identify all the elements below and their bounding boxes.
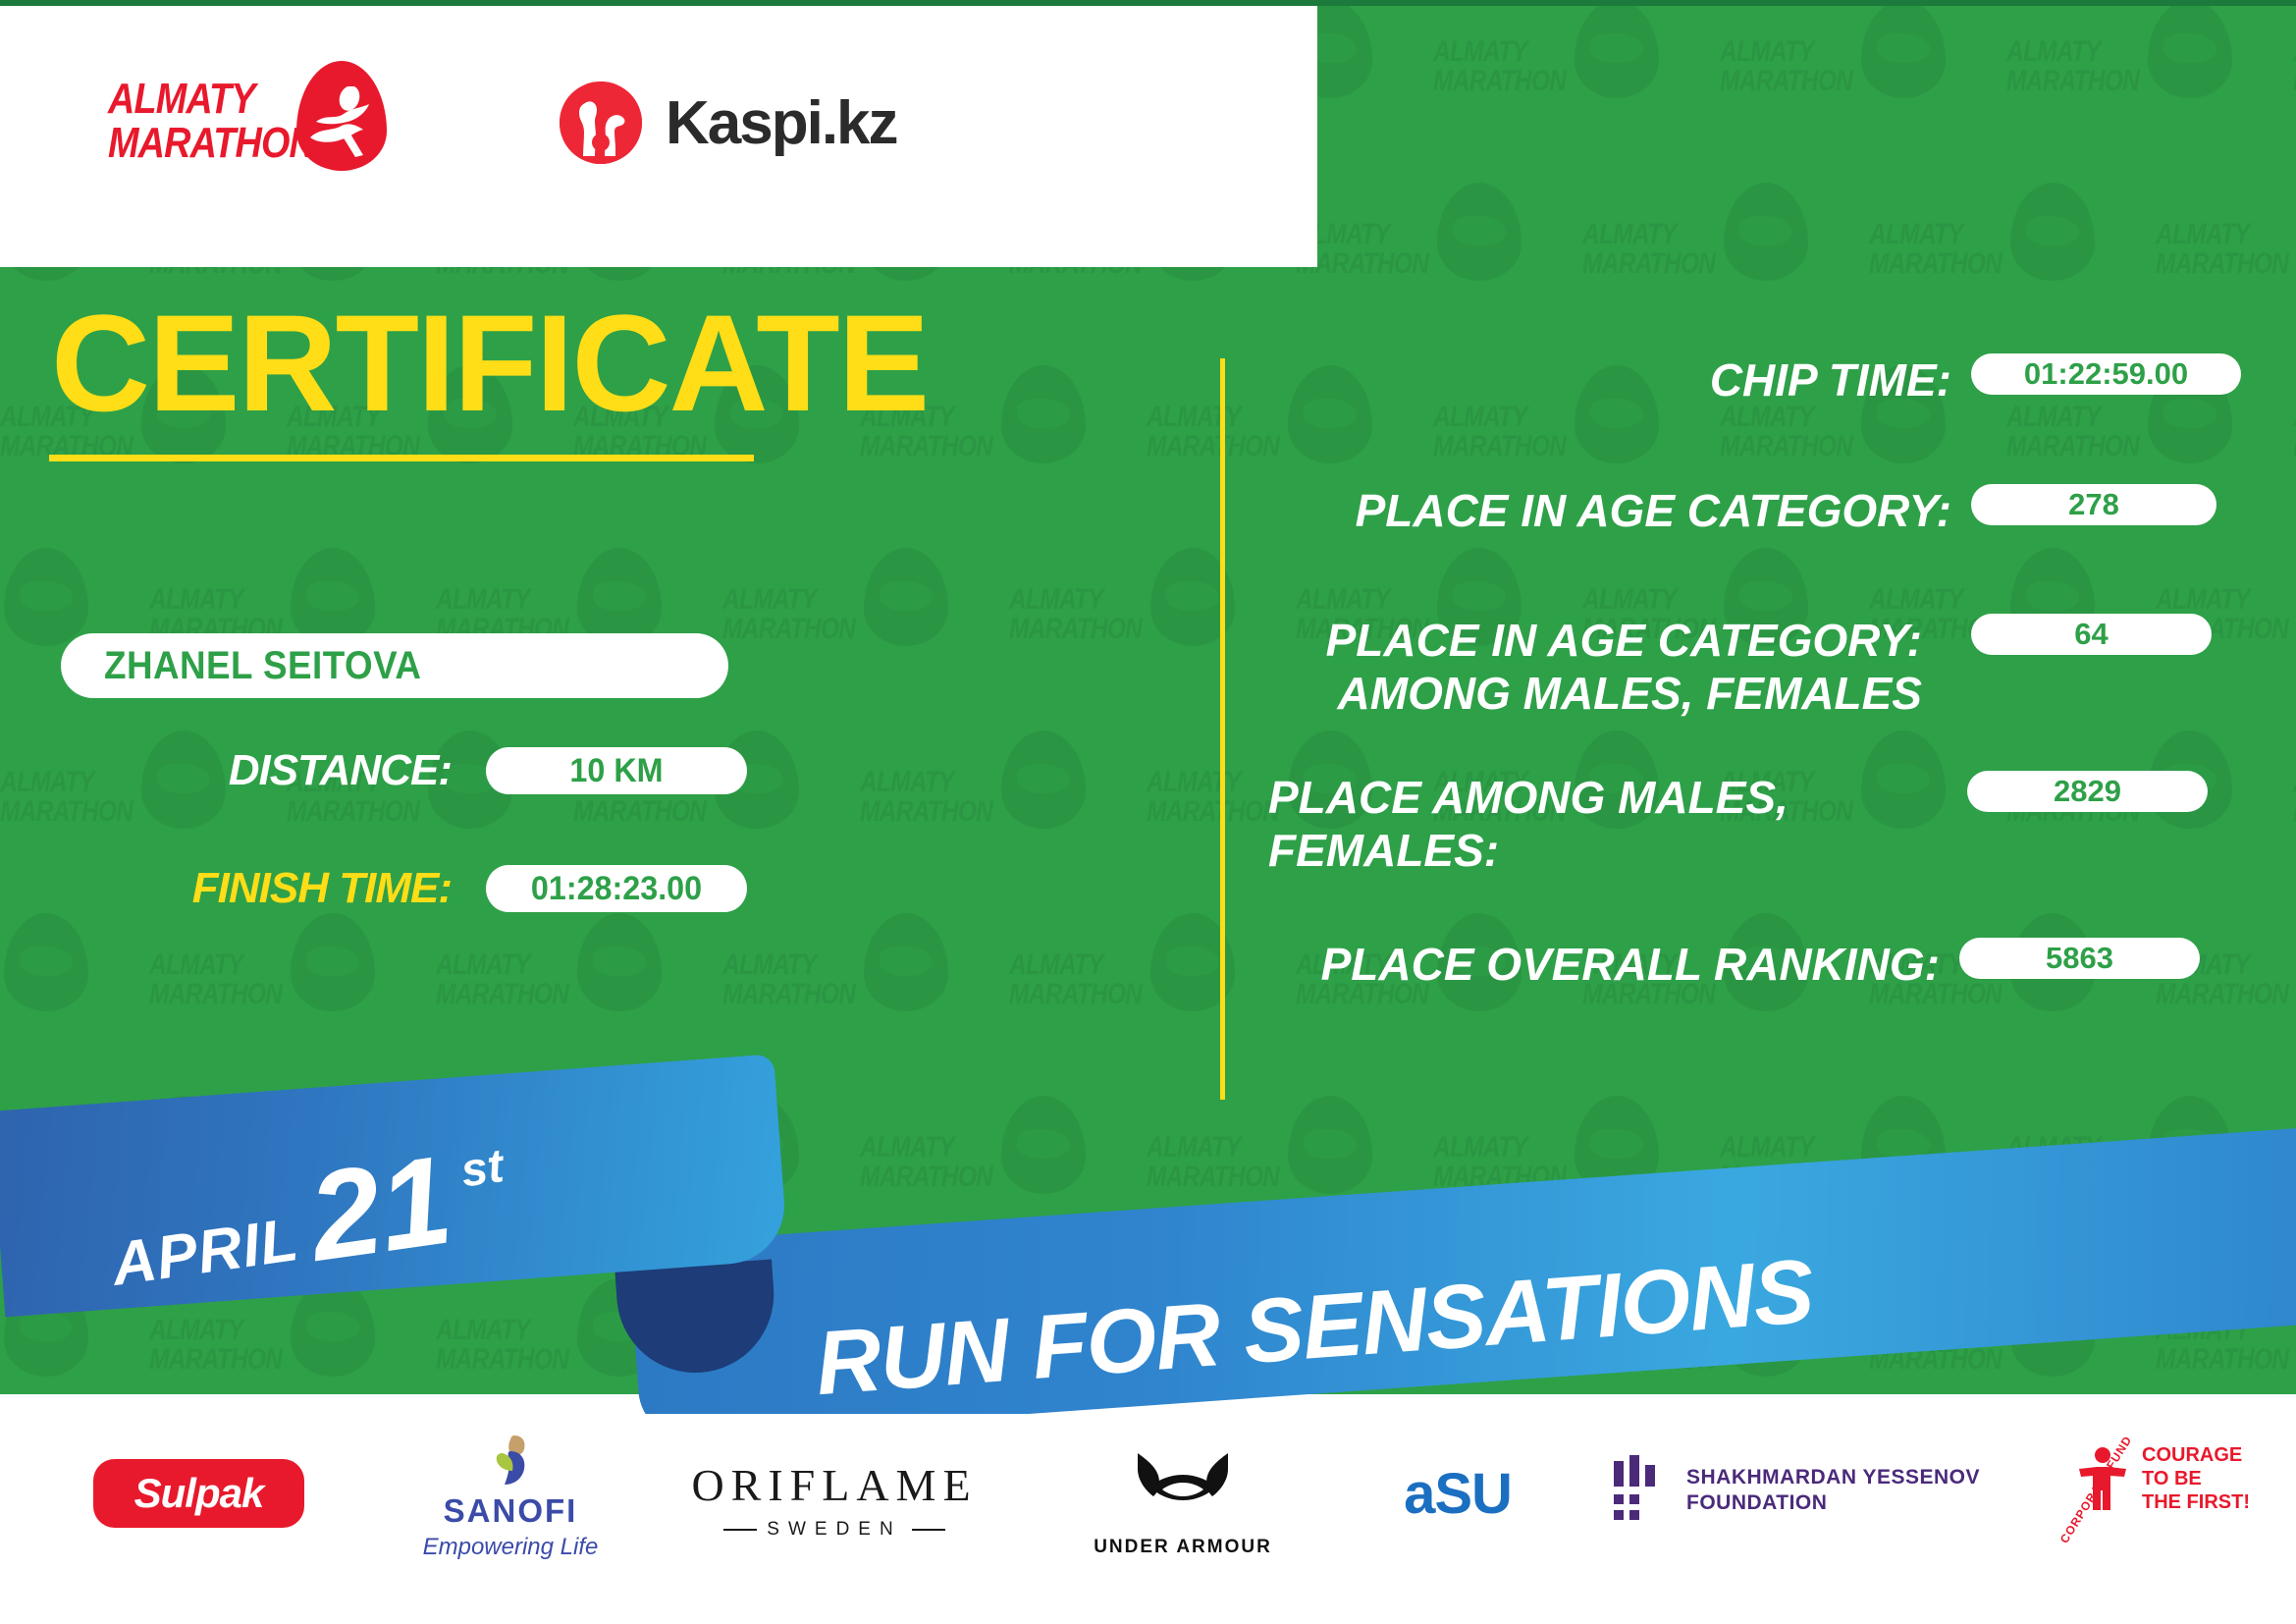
stat-value: 278 [1971, 484, 2216, 525]
header-logo-row: ALMATY MARATHON [108, 59, 897, 187]
watermark-text: ALMATYMARATHON [436, 950, 564, 1009]
stat-row-place-among-gender: PLACE AMONG MALES,FEMALES: 2829 [1245, 771, 2261, 877]
watermark-text: ALMATYMARATHON [722, 950, 851, 1009]
watermark-text: ALMATYMARATHON [1582, 220, 1711, 279]
under-armour-wordmark: UNDER ARMOUR [1070, 1537, 1296, 1558]
event-ribbon-banner: APRIL 21 st RUN FOR SENSATIONS [0, 1090, 2296, 1414]
watermark-tile: ALMATYMARATHON [1009, 548, 1235, 695]
watermark-droplet-icon [1861, 0, 1946, 98]
watermark-text: ALMATYMARATHON [1433, 37, 1562, 96]
watermark-text: ALMATYMARATHON [2006, 403, 2135, 461]
stat-label: PLACE AMONG MALES,FEMALES: [1245, 771, 1932, 877]
sulpak-wordmark: Sulpak [134, 1470, 264, 1517]
yessenov-line-1: SHAKHMARDAN YESSENOV [1686, 1466, 1980, 1489]
sanofi-mark-icon [481, 1432, 540, 1489]
watermark-text: ALMATYMARATHON [2156, 220, 2284, 279]
kaspi-people-glyph [560, 81, 642, 164]
watermark-text: ALMATYMARATHON [1147, 403, 1275, 461]
watermark-droplet-icon [4, 548, 88, 646]
distance-value: 10 KM [486, 747, 747, 794]
oriflame-sub-row: SWEDEN [687, 1519, 982, 1541]
asu-wordmark: aSU [1364, 1461, 1551, 1527]
oriflame-sub-text: SWEDEN [767, 1519, 901, 1541]
under-armour-icon [1124, 1449, 1242, 1526]
watermark-droplet-icon [1575, 0, 1659, 98]
watermark-droplet-icon [291, 913, 375, 1011]
watermark-text: ALMATYMARATHON [1009, 950, 1138, 1009]
stat-value: 64 [1971, 614, 2212, 655]
watermark-tile: ALMATYMARATHON [0, 913, 88, 1060]
kaspi-people-circle-icon [560, 81, 642, 164]
oriflame-rule-left [723, 1529, 757, 1531]
almaty-marathon-wordmark: ALMATY MARATHON [108, 77, 315, 165]
watermark-tile: ALMATYMARATHON [1009, 913, 1235, 1060]
courage-line-1: COURAGE [2142, 1444, 2242, 1466]
participant-name-value: ZHANEL SEITOVA [104, 644, 421, 688]
watermark-droplet-icon [577, 913, 662, 1011]
distance-row: DISTANCE: 10 KM [0, 746, 982, 795]
courage-person-icon [2075, 1445, 2130, 1512]
watermark-tile: ALMATYMARATHON [1296, 183, 1522, 330]
watermark-droplet-icon [291, 548, 375, 646]
watermark-droplet-icon [4, 913, 88, 1011]
yessenov-foundation-logo: SHAKHMARDAN YESSENOV FOUNDATION [1610, 1455, 1983, 1526]
watermark-droplet-icon [577, 548, 662, 646]
stat-label: CHIP TIME: [1245, 353, 1971, 406]
courage-line-3: THE FIRST! [2142, 1491, 2250, 1513]
sanofi-glyph [481, 1432, 540, 1489]
yessenov-wordmark: SHAKHMARDAN YESSENOV FOUNDATION [1686, 1465, 1980, 1516]
watermark-text: ALMATYMARATHON [1433, 403, 1562, 461]
courage-person-glyph [2075, 1445, 2130, 1512]
watermark-droplet-icon [1001, 365, 1086, 463]
runner-glyph [306, 86, 377, 159]
watermark-text: ALMATYMARATHON [1720, 37, 1848, 96]
sanofi-tagline: Empowering Life [398, 1534, 623, 1561]
watermark-droplet-icon [1437, 183, 1522, 281]
watermark-droplet-icon [1724, 183, 1808, 281]
page-title: CERTIFICATE [51, 295, 928, 432]
almaty-line: ALMATY [108, 75, 255, 123]
watermark-droplet-icon [2010, 183, 2095, 281]
ribbon-day-suffix: st [457, 1139, 507, 1198]
watermark-text: ALMATYMARATHON [2006, 37, 2135, 96]
finish-time-label: FINISH TIME: [0, 864, 452, 913]
marathon-line: MARATHON [108, 119, 315, 167]
oriflame-logo: ORIFLAME SWEDEN [687, 1459, 982, 1541]
title-underline [49, 455, 754, 461]
watermark-tile: ALMATYMARATHON [149, 913, 375, 1060]
courage-fund-logo: CORPORATE FUND COURAGE TO BE THE FIRST! [2042, 1443, 2268, 1514]
watermark-text: ALMATYMARATHON [149, 950, 278, 1009]
sanofi-logo: SANOFI Empowering Life [398, 1432, 623, 1559]
kaspi-logo: Kaspi.kz [560, 81, 897, 164]
watermark-tile: ALMATYMARATHON [1582, 183, 1808, 330]
watermark-droplet-icon [864, 913, 948, 1011]
watermark-droplet-icon [1001, 731, 1086, 829]
certificate-canvas: ALMATYMARATHONALMATYMARATHONALMATYMARATH… [0, 0, 2296, 1624]
stat-row-place-overall: PLACE OVERALL RANKING: 5863 [1245, 938, 2261, 991]
distance-label: DISTANCE: [0, 746, 452, 795]
oriflame-wordmark: ORIFLAME [687, 1459, 982, 1511]
watermark-tile: ALMATYMARATHON [2006, 0, 2232, 147]
courage-line-2: TO BE [2142, 1468, 2202, 1489]
stat-value: 2829 [1967, 771, 2208, 812]
watermark-droplet-icon [2148, 0, 2232, 98]
watermark-text: ALMATYMARATHON [1869, 220, 1998, 279]
watermark-droplet-icon [864, 548, 948, 646]
almaty-marathon-logo: ALMATY MARATHON [108, 59, 402, 187]
top-accent-strip [0, 0, 2296, 6]
watermark-text: ALMATYMARATHON [722, 585, 851, 644]
participant-name-field: ZHANEL SEITOVA [61, 633, 728, 698]
yessenov-bars-glyph [1610, 1455, 1669, 1526]
courage-fund-wordmark: COURAGE TO BE THE FIRST! [2142, 1443, 2250, 1514]
watermark-text: ALMATYMARATHON [1720, 403, 1848, 461]
watermark-tile: ALMATYMARATHON [1869, 183, 2095, 330]
sulpak-logo: Sulpak [93, 1459, 304, 1528]
under-armour-logo: UNDER ARMOUR [1070, 1449, 1296, 1558]
watermark-text: ALMATYMARATHON [1009, 585, 1138, 644]
stat-label: PLACE OVERALL RANKING: [1245, 938, 1959, 991]
ribbon-day: 21 [303, 1147, 456, 1272]
watermark-tile: ALMATYMARATHON [1720, 0, 1946, 147]
sanofi-wordmark: SANOFI [398, 1492, 623, 1530]
header-white-panel: ALMATY MARATHON [0, 0, 1317, 267]
watermark-tile: ALMATYMARATHON [722, 913, 948, 1060]
stat-row-chip-time: CHIP TIME: 01:22:59.00 [1245, 353, 2261, 406]
yessenov-bars-icon [1610, 1455, 1669, 1526]
stat-value: 01:22:59.00 [1971, 353, 2241, 395]
stat-row-place-age-category-gender: PLACE IN AGE CATEGORY:AMONG MALES, FEMAL… [1245, 614, 2261, 720]
finish-time-row: FINISH TIME: 01:28:23.00 [0, 864, 982, 913]
asu-logo: aSU [1364, 1461, 1551, 1527]
stat-value: 5863 [1959, 938, 2200, 979]
stat-row-place-age-category: PLACE IN AGE CATEGORY: 278 [1245, 484, 2261, 537]
yessenov-line-2: FOUNDATION [1686, 1491, 1827, 1514]
stat-label: PLACE IN AGE CATEGORY: [1245, 484, 1971, 537]
watermark-tile: ALMATYMARATHON [722, 548, 948, 695]
stat-label: PLACE IN AGE CATEGORY:AMONG MALES, FEMAL… [1245, 614, 1942, 720]
vertical-divider [1220, 358, 1225, 1100]
watermark-tile: ALMATYMARATHON [436, 913, 662, 1060]
watermark-tile: ALMATYMARATHON [1433, 0, 1659, 147]
finish-time-value: 01:28:23.00 [486, 865, 747, 912]
sponsors-bar: Sulpak SANOFI Empowering Life ORIFLAME S… [0, 1414, 2296, 1624]
watermark-tile: ALMATYMARATHON [2156, 183, 2296, 330]
kaspi-wordmark: Kaspi.kz [666, 88, 897, 158]
oriflame-rule-right [912, 1529, 945, 1531]
